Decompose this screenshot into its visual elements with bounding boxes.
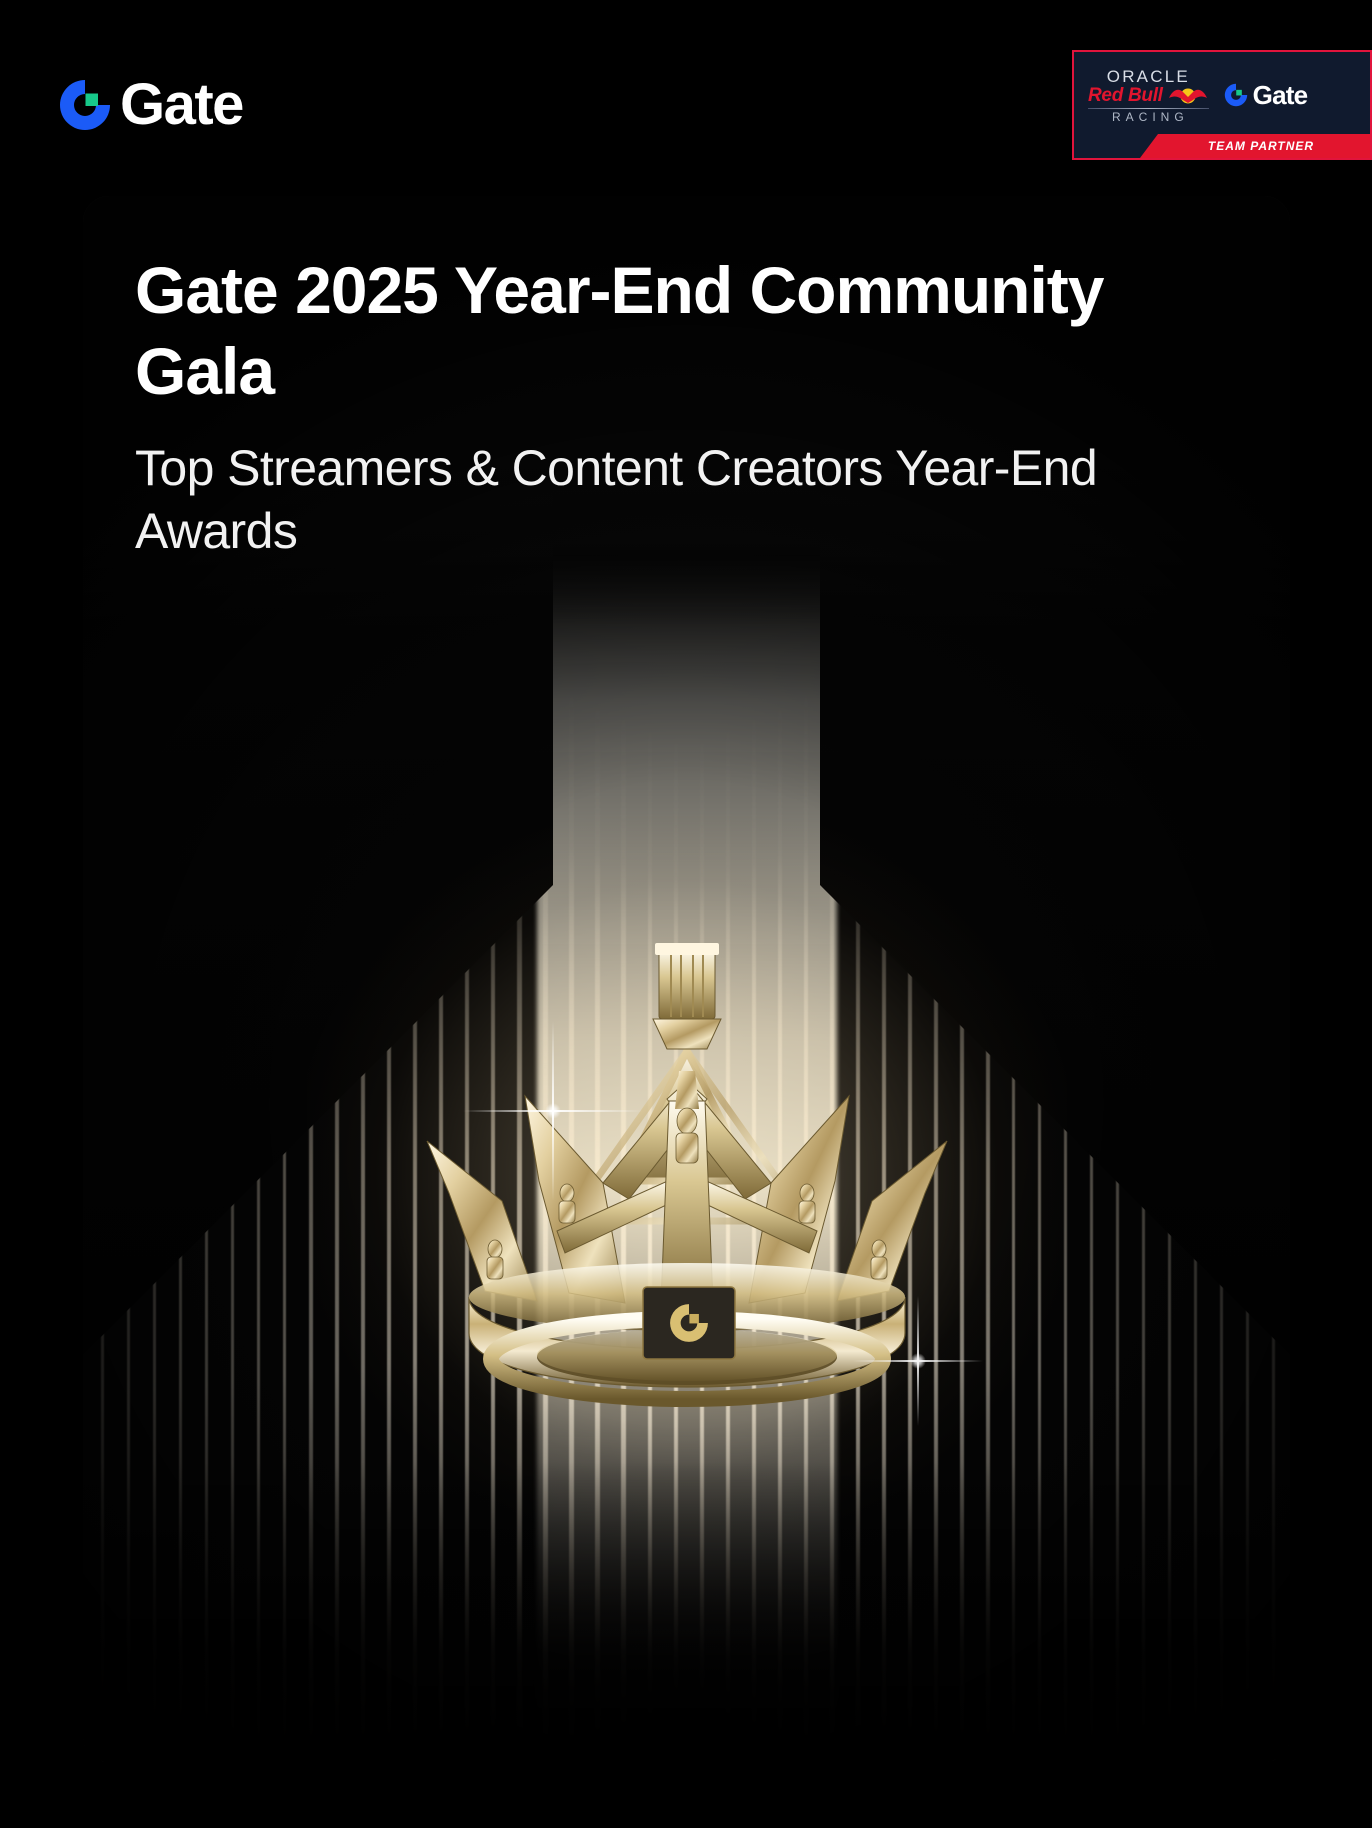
badge-logos-row: ORACLE Red Bull RACING xyxy=(1074,52,1370,138)
red-bull-charging-bulls-icon xyxy=(1167,86,1209,104)
badge-gate-wordmark: Gate xyxy=(1253,80,1308,111)
oracle-red-bull-racing-lockup: ORACLE Red Bull RACING xyxy=(1088,68,1209,123)
page-subtitle: Top Streamers & Content Creators Year-En… xyxy=(135,437,1195,563)
red-bull-racing-team-partner-badge[interactable]: ORACLE Red Bull RACING xyxy=(1072,50,1372,160)
team-partner-banner: TEAM PARTNER xyxy=(1140,134,1370,158)
page-root: Gate ORACLE Red Bull RACING xyxy=(0,0,1372,1828)
red-bull-row: Red Bull xyxy=(1088,86,1209,105)
gate-wordmark: Gate xyxy=(120,76,243,134)
badge-divider-rule xyxy=(1088,108,1209,109)
oracle-label: ORACLE xyxy=(1107,68,1190,85)
page-header: Gate ORACLE Red Bull RACING xyxy=(0,0,1372,196)
team-partner-strip: TEAM PARTNER xyxy=(1074,134,1370,158)
gala-announcement-card[interactable]: Gate 2025 Year-End Community Gala Top St… xyxy=(83,196,1290,1762)
red-bull-label: Red Bull xyxy=(1088,86,1163,105)
team-partner-label: TEAM PARTNER xyxy=(1196,139,1314,153)
card-text-block: Gate 2025 Year-End Community Gala Top St… xyxy=(83,196,1290,563)
badge-gate-logo: Gate xyxy=(1223,80,1308,111)
racing-label: RACING xyxy=(1108,111,1189,123)
gate-logo-icon xyxy=(1223,82,1249,108)
page-title: Gate 2025 Year-End Community Gala xyxy=(135,250,1195,411)
gate-logo-icon xyxy=(56,76,114,134)
gate-brand-logo[interactable]: Gate xyxy=(56,76,243,134)
